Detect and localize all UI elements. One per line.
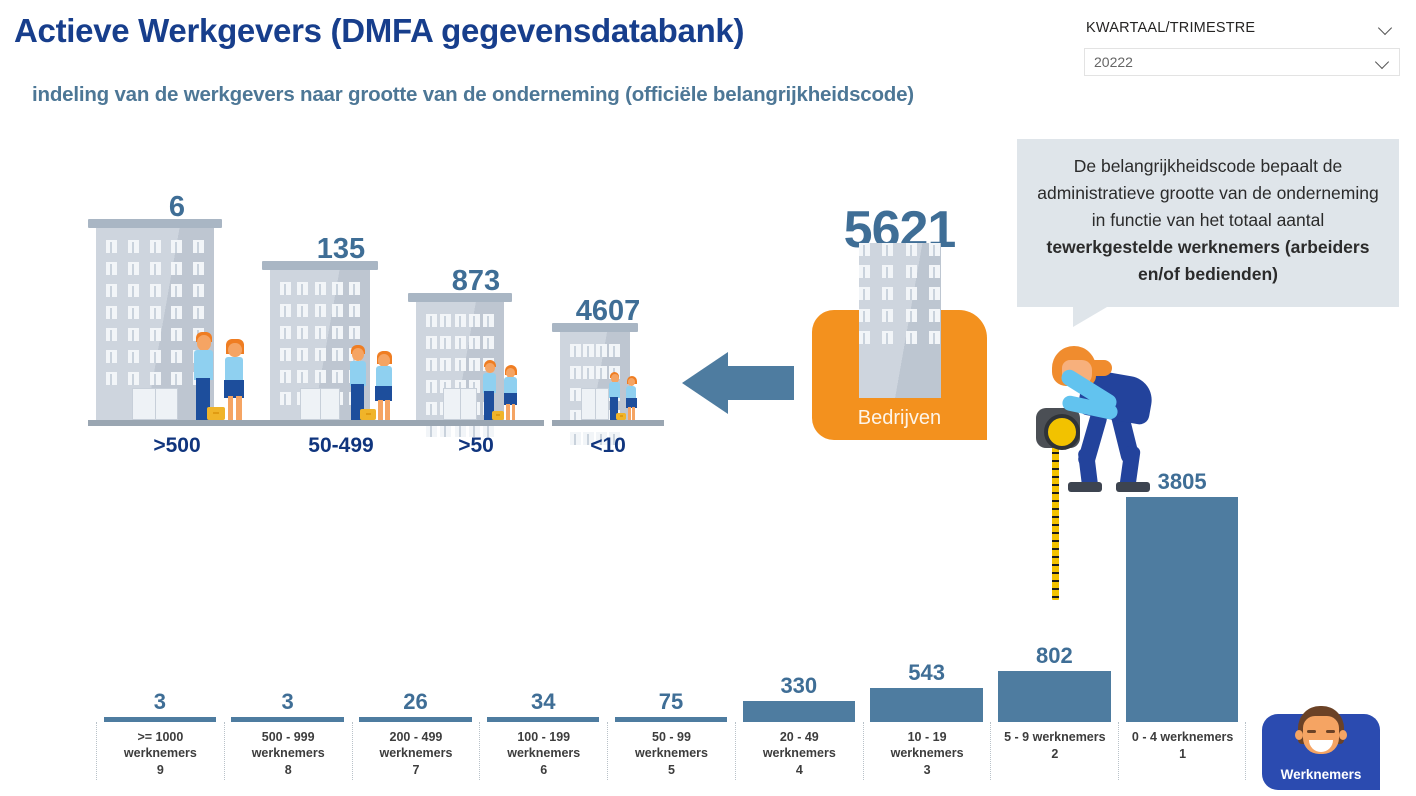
building-window [440,336,451,349]
building-door [443,388,477,420]
building-window [171,262,182,275]
building-ground-line [88,420,266,426]
quarter-select[interactable]: 20222 [1084,48,1400,76]
bar-column: 330 [735,470,863,722]
building-value: 4607 [552,297,664,326]
building-value: 873 [408,267,544,296]
bar-value-label: 75 [659,690,683,714]
building-window [349,304,360,317]
building-window [106,350,117,363]
building-window-row [570,344,620,357]
building-window [171,306,182,319]
building-window [906,265,917,278]
building-window [349,282,360,295]
building-window [315,370,326,383]
building-window [469,336,480,349]
building-group: 6>500 [88,228,266,420]
building-window-row [106,372,204,385]
building-window [315,326,326,339]
bar-value-label: 26 [403,690,427,714]
bar-value-label: 802 [1036,644,1073,668]
building-window [297,370,308,383]
building-window [106,328,117,341]
bar-axis-label: 50 - 99 werknemers5 [607,722,735,780]
bar-code-label: 7 [353,763,480,777]
building-window-row [280,304,360,317]
person-legs [378,400,383,420]
building-window [859,331,870,344]
person-legs [506,404,510,420]
building-window [193,284,204,297]
bar-column: 26 [352,470,480,722]
building-window-row [426,336,494,349]
building-window [150,262,161,275]
bar-code-label: 9 [97,763,224,777]
person-male-icon [608,372,625,420]
building-window [171,350,182,363]
building-roof [262,261,378,270]
person-torso [483,373,496,393]
building-window [332,370,343,383]
employees-badge-label: Werknemers [1262,767,1380,782]
building-door [300,388,340,420]
bar-category-label: 10 - 19 werknemers [864,729,991,761]
building-door [132,388,178,420]
employee-ear-right [1339,730,1347,740]
person-male-icon [348,345,375,420]
building-window-row [106,328,204,341]
bar-column: 34 [479,470,607,722]
chevron-down-icon[interactable] [1375,54,1391,70]
person-female-icon [625,376,640,420]
building-window [171,284,182,297]
building-window [315,282,326,295]
bar-category-label: 200 - 499 werknemers [353,729,480,761]
building-window [609,344,620,357]
building-window [596,366,607,379]
bar[interactable] [1126,497,1238,722]
importance-code-bar-chart: 332634753305438023805 >= 1000 werknemers… [96,470,1246,780]
building-window [859,309,870,322]
building-window [297,282,308,295]
callout-text-normal: De belangrijkheidscode bepaalt de admini… [1037,156,1378,230]
building-window [483,336,494,349]
building-window [128,328,139,341]
building-window [426,358,437,371]
building-window [150,240,161,253]
building-window [596,344,607,357]
total-companies-label: Bedrijven [812,407,987,430]
building-window [906,287,917,300]
building-window [882,309,893,322]
person-head [378,354,390,366]
info-callout: De belangrijkheidscode bepaalt de admini… [1017,139,1399,307]
building-group: 4607<10 [552,332,664,420]
building-window-row [859,309,941,322]
building-window [332,326,343,339]
arrow-shaft [720,366,794,400]
building-window [280,370,291,383]
bar-axis-label: 10 - 19 werknemers3 [863,722,991,780]
person-legs [512,404,516,420]
building-window-row [106,284,204,297]
building-window [171,372,182,385]
bar-category-label: 20 - 49 werknemers [736,729,863,761]
person-head [485,363,495,374]
building-window [570,366,581,379]
building-window [440,314,451,327]
building-window [128,306,139,319]
bar-code-label: 4 [736,763,863,777]
building-value: 135 [262,235,420,264]
total-companies-card: 5621 Bedrijven [812,310,987,440]
building-roof [408,293,512,302]
company-size-buildings-chart: 6>50013550-499873>504607<10 [0,180,700,480]
building-windows [859,243,941,344]
building-window [906,331,917,344]
building-window-row [859,265,941,278]
building-window [332,348,343,361]
person-head [628,378,636,386]
quarter-select-value: 20222 [1094,54,1133,70]
person-legs [628,407,631,420]
building-window [315,304,326,317]
building-category-label: <10 [552,434,664,458]
person-head [352,348,364,361]
building-window [193,262,204,275]
building-group: 13550-499 [262,270,420,420]
building-window [469,314,480,327]
bar-code-label: 2 [991,747,1118,761]
building-window [929,331,940,344]
building-window [882,287,893,300]
building-window [332,282,343,295]
building-ground-line [552,420,664,426]
building-window [297,304,308,317]
bar-axis-label: 20 - 49 werknemers4 [735,722,863,780]
building-window [349,326,360,339]
bar-axis-label: 5 - 9 werknemers2 [990,722,1118,780]
building-window [150,350,161,363]
building-window [150,328,161,341]
building-ground-line [408,420,544,426]
bar-chart-plot: 332634753305438023805 [96,470,1246,722]
person-torso [626,386,636,400]
building-window [882,265,893,278]
building-window [455,336,466,349]
building-window [128,350,139,363]
person-male-icon [192,332,223,420]
bar-axis-label: 0 - 4 werknemers1 [1118,722,1246,780]
bar-value-label: 3 [154,690,166,714]
bar-axis-label: 200 - 499 werknemers7 [352,722,480,780]
building-window [280,326,291,339]
office-building-icon [859,243,941,398]
person-legs [228,396,234,420]
bar-category-label: >= 1000 werknemers [97,729,224,761]
building-window [128,372,139,385]
bar-category-label: 50 - 99 werknemers [608,729,735,761]
building-window-row [106,350,204,363]
person-female-icon [503,365,522,420]
tape-measure-body [1036,408,1080,448]
person-torso [376,366,392,387]
building-category-label: >50 [408,434,544,458]
building-window [882,243,893,256]
callout-tail [1073,307,1107,327]
quarter-slicer: KWARTAAL/TRIMESTRE 20222 [1084,14,1400,76]
building-window [193,306,204,319]
building-window [193,240,204,253]
building-window [280,348,291,361]
building-window [297,326,308,339]
building-value: 6 [88,193,266,222]
bar-value-label: 3805 [1158,470,1207,494]
building-group: 873>50 [408,302,544,420]
bar-value-label: 330 [780,674,817,698]
building-ground-line [262,420,420,426]
bar-column: 75 [607,470,735,722]
chevron-down-icon[interactable] [1378,20,1394,36]
building-window [455,314,466,327]
building-window-row [106,306,204,319]
bar[interactable] [870,688,982,722]
building-window-row [280,326,360,339]
building-door [581,388,609,420]
person-female-icon [375,351,398,420]
employees-badge: Werknemers [1262,714,1380,790]
building-window [106,262,117,275]
building-window [280,392,291,405]
bar-value-label: 543 [908,661,945,685]
bar-axis-label: 500 - 999 werknemers8 [224,722,352,780]
building-window [929,265,940,278]
building-window [455,358,466,371]
person-torso [225,357,243,382]
bar-column: 3 [96,470,224,722]
person-legs [236,396,242,420]
building-window [280,304,291,317]
building-window [570,388,581,401]
bar-column: 802 [990,470,1118,722]
person-torso [350,361,366,386]
person-legs [385,400,390,420]
building-window-row [859,287,941,300]
callout-text: De belangrijkheidscode bepaalt de admini… [1033,153,1383,288]
arrow-left-icon [682,352,794,414]
building-window-row [426,314,494,327]
building-window [426,336,437,349]
page-subtitle: indeling van de werkgevers naar grootte … [32,83,914,107]
building-window [128,284,139,297]
building-window [859,265,870,278]
employee-eye-left [1307,730,1316,733]
building-window [929,243,940,256]
building-window-row [859,243,941,256]
arrow-head [682,352,728,414]
building-window [483,314,494,327]
person-torso [609,382,620,398]
bar-value-label: 34 [531,690,555,714]
building-window [469,358,480,371]
building-roof [88,219,222,228]
report-page: Actieve Werkgevers (DMFA gegevensdataban… [0,0,1416,796]
building-window [128,262,139,275]
bar-code-label: 5 [608,763,735,777]
person-torso [504,377,516,394]
slicer-label: KWARTAAL/TRIMESTRE [1086,20,1255,36]
building-window [583,344,594,357]
person-torso [194,350,213,379]
building-window-row [859,331,941,344]
building-window-row [280,282,360,295]
building-window [426,402,437,415]
building-window [426,380,437,393]
building-window [906,309,917,322]
building-roof [552,323,638,332]
building-window [583,366,594,379]
slicer-header[interactable]: KWARTAAL/TRIMESTRE [1084,14,1400,42]
building-window [171,328,182,341]
building-window [906,243,917,256]
person-female-icon [223,339,251,420]
building-category-label: >500 [88,434,266,458]
person-head [197,335,212,351]
bar-axis-label: 100 - 199 werknemers6 [479,722,607,780]
bar-code-label: 6 [480,763,607,777]
building-window [882,331,893,344]
building-window [106,372,117,385]
building-window [150,306,161,319]
building-window [171,240,182,253]
building-window [106,240,117,253]
page-title: Actieve Werkgevers (DMFA gegevensdataban… [14,12,744,50]
building-window [128,240,139,253]
building-window [280,282,291,295]
person-male-icon [482,360,503,420]
building-window [929,287,940,300]
building-window [859,287,870,300]
bar-code-label: 1 [1119,747,1246,761]
bar-code-label: 3 [864,763,991,777]
employee-ear-left [1295,730,1303,740]
bar-column: 543 [863,470,991,722]
bar-axis-label: >= 1000 werknemers9 [96,722,224,780]
building-window [150,372,161,385]
building-window [859,243,870,256]
building-window [426,314,437,327]
person-head [228,343,242,358]
callout-text-bold: tewerkgestelde werknemers (arbeiders en/… [1047,237,1370,284]
building-window [106,284,117,297]
building-window [106,306,117,319]
bar-code-label: 8 [225,763,352,777]
bar-column: 3 [224,470,352,722]
bar-category-label: 5 - 9 werknemers [991,729,1118,745]
building-window-row [106,240,204,253]
building-window [332,304,343,317]
building-window [929,309,940,322]
bar-category-label: 100 - 199 werknemers [480,729,607,761]
building-window [440,358,451,371]
bar-chart-axis-labels: >= 1000 werknemers9500 - 999 werknemers8… [96,722,1246,780]
building-category-label: 50-499 [262,434,420,458]
bar[interactable] [998,671,1110,722]
person-legs [632,407,635,420]
building-window [150,284,161,297]
building-window-row [106,262,204,275]
bar-category-label: 0 - 4 werknemers [1119,729,1246,745]
bar[interactable] [743,701,855,722]
building-window [297,348,308,361]
bar-column: 3805 [1118,470,1246,722]
building-window [570,344,581,357]
building-window [315,348,326,361]
employee-eye-right [1326,730,1335,733]
bar-category-label: 500 - 999 werknemers [225,729,352,761]
bar-value-label: 3 [282,690,294,714]
